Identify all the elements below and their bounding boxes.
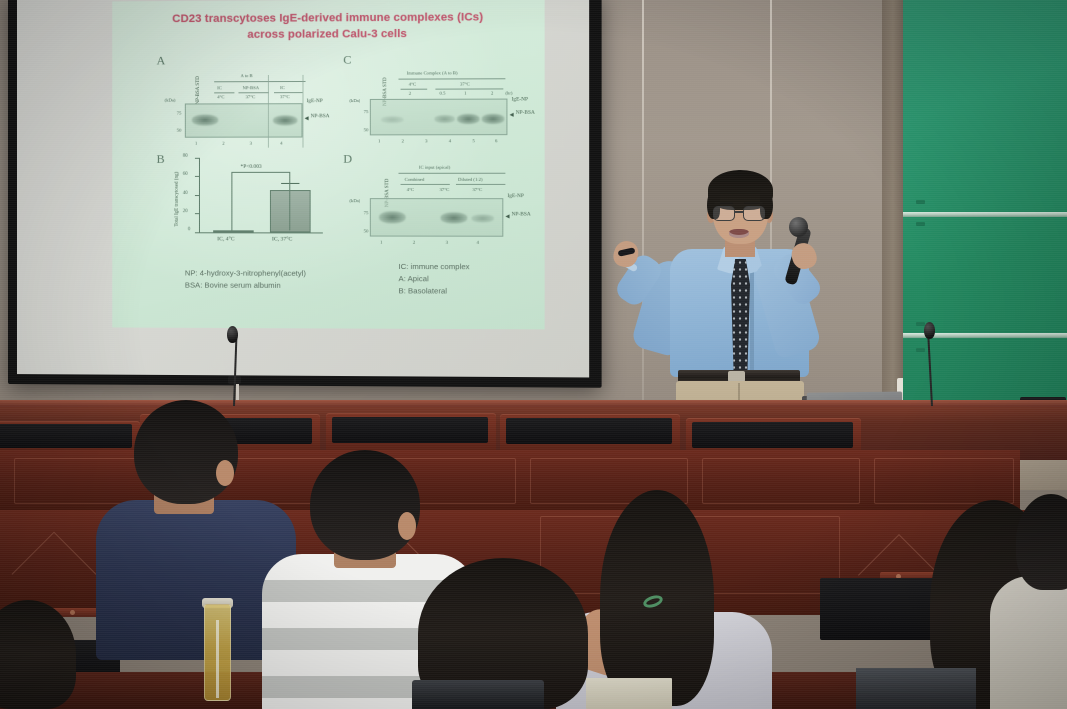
panel-a-rotated-label: NP-BSA STD [196, 76, 201, 104]
chalkboard-clip [916, 348, 925, 352]
panel-d-band-label-top: IgE-NP [507, 193, 523, 199]
panel-c-group-header: Immune Complex (A to B) [407, 70, 458, 75]
panel-a-temp-3: 37°C [280, 94, 290, 99]
panel-c-band-label-top: IgE-NP [512, 96, 528, 102]
panel-b-y-axis [199, 158, 200, 232]
figure-panel-b: B Total IgE transcytosed (ng) 80 [157, 150, 340, 256]
attendee-laptop[interactable] [412, 680, 544, 709]
attendee-head [134, 400, 238, 504]
panel-c-hour-2: 0.5 [440, 91, 446, 96]
slide-legend-left: NP: 4-hydroxy-3-nitrophenyl(acetyl) BSA:… [185, 267, 306, 291]
panel-c-hour-3: 1 [464, 91, 466, 96]
panel-c-sub-rule [435, 88, 503, 89]
panel-d-sub-rule [401, 184, 450, 185]
panel-a-sub-rule [238, 92, 268, 93]
panel-c-lane-num-6: 6 [495, 138, 497, 143]
screen-surface: CD23 transcytoses IgE-derived immune com… [17, 0, 589, 377]
blot-band [379, 211, 406, 223]
presenter [612, 165, 857, 430]
panel-c-hour-unit: (hr) [505, 90, 512, 95]
chalkboard-clip [916, 222, 925, 226]
slide-title-line-1: CD23 transcytoses IgE-derived immune com… [112, 9, 544, 28]
panel-c-lane-num-4: 4 [449, 138, 451, 143]
projection-screen: CD23 transcytoses IgE-derived immune com… [8, 0, 602, 388]
panel-d-blot [370, 198, 504, 237]
panel-d-lane-num-4: 4 [477, 240, 479, 245]
panel-d-temp-2: 37°C [440, 187, 450, 192]
gooseneck-microphone-right[interactable] [924, 322, 935, 339]
panel-a-group-header: A to B [241, 73, 253, 78]
figure-panel-d: D NP-BSA STD (kDa) 75 50 IC input (apica… [343, 149, 538, 256]
bar-ic-4c [213, 230, 254, 232]
chalkboard-clip [916, 322, 925, 326]
panel-a-lane-num-4: 4 [280, 141, 282, 146]
eyeglasses-icon [713, 206, 735, 221]
panel-b-ytick-label-40: 40 [183, 191, 188, 196]
panel-b-ytick-label-0: 0 [188, 227, 190, 232]
panel-a-lane-group-3: IC [280, 85, 285, 90]
panel-d-kda-label: (kDa) [349, 198, 360, 203]
panel-a-divider [268, 75, 269, 148]
bench-panel [874, 458, 1014, 504]
panel-b-xcat-1: IC, 4°C [217, 236, 234, 242]
panel-b-letter: B [157, 152, 165, 167]
panel-a-lane-num-3: 3 [250, 141, 252, 146]
significance-bracket [231, 172, 290, 231]
panel-a-temp-2: 37°C [246, 94, 256, 99]
panel-d-temp-1: 4°C [407, 187, 414, 192]
panel-c-lane-num-5: 5 [472, 138, 474, 143]
attendee-ear [216, 460, 234, 486]
slide-title: CD23 transcytoses IgE-derived immune com… [112, 9, 544, 44]
panel-d-mw-bottom: 50 [364, 228, 369, 233]
attendee-head [1016, 494, 1067, 590]
bench-knob [70, 610, 75, 615]
panel-a-sub-rule [214, 92, 234, 93]
panel-d-letter: D [343, 152, 352, 167]
panel-c-mw-bottom: 50 [364, 127, 369, 132]
eyeglasses-bridge [735, 211, 743, 213]
panel-a-lane-num-1: 1 [195, 141, 197, 146]
blot-band [457, 114, 480, 124]
panel-a-arrow [305, 116, 309, 120]
blot-band [273, 115, 297, 125]
panel-a-letter: A [157, 53, 166, 68]
panel-c-mw-top: 75 [364, 109, 369, 114]
chalkboard-clip [916, 200, 925, 204]
panel-a-sub-rule [274, 92, 302, 93]
panel-c-temp-1: 4°C [409, 82, 416, 87]
panel-c-lane-num-3: 3 [425, 138, 427, 143]
panel-c-hour-4: 2 [491, 90, 493, 95]
panel-a-group-rule [214, 81, 305, 82]
blot-band [441, 212, 468, 223]
panel-d-band-label-bottom: NP-BSA [512, 211, 531, 217]
panel-c-hour-1: 2 [409, 91, 411, 96]
bench-seat [692, 422, 853, 448]
panel-d-mw-top: 75 [364, 210, 369, 215]
panel-d-group-header: IC input (apical) [419, 165, 450, 170]
panel-b-xcat-2: IC, 37°C [272, 236, 292, 242]
panel-b-ytick [195, 158, 199, 159]
panel-c-blot [370, 99, 508, 136]
panel-a-mw-top: 75 [177, 111, 182, 116]
attendee-torso [990, 576, 1067, 709]
panel-d-temp-3: 37°C [472, 187, 482, 192]
eyeglasses-icon [743, 206, 765, 221]
lecture-hall-photo: CD23 transcytoses IgE-derived immune com… [0, 0, 1067, 709]
panel-d-lane-num-3: 3 [446, 240, 448, 245]
panel-c-lane-num-2: 2 [402, 138, 404, 143]
blot-band [482, 114, 505, 124]
presenter-shirt-placket [750, 269, 754, 373]
panel-b-pvalue: *P<0.003 [241, 164, 262, 170]
attendee-notebook[interactable] [856, 668, 976, 709]
wall-column [882, 0, 904, 440]
panel-b-ytick [195, 176, 199, 177]
panel-a-band-label-top: IgE-NP [307, 98, 323, 104]
presenter-mouth [729, 229, 749, 238]
panel-b-y-axis-label: Total IgE transcytosed (ng) [175, 172, 181, 227]
panel-a-lane-group-1: IC [217, 85, 222, 90]
panel-d-group-rule [398, 173, 505, 174]
blot-band [192, 114, 218, 125]
projected-slide: CD23 transcytoses IgE-derived immune com… [112, 0, 544, 329]
panel-b-ytick-label-80: 80 [183, 154, 188, 159]
panel-b-ytick [195, 195, 199, 196]
panel-c-temp-2: 37°C [460, 81, 470, 86]
panel-a-mw-bottom: 50 [177, 128, 182, 133]
panel-c-group-rule [398, 78, 505, 79]
panel-a-divider [302, 75, 303, 148]
panel-d-sub-header-2: Diluted (1:2) [458, 177, 483, 182]
panel-b-y-label-1: Total IgE [175, 208, 180, 227]
panel-b-ytick [195, 232, 199, 233]
figure-panel-c: C NP-BSA STD (kDa) 75 50 Immune Complex … [343, 52, 538, 149]
panel-c-kda-label: (kDa) [349, 98, 360, 103]
bench-seat [820, 578, 940, 640]
figure-panel-a: A NP-BSA STD (kDa) 75 50 A to B IC NP-BS… [157, 53, 340, 149]
panel-b-ytick-label-60: 60 [183, 172, 188, 177]
panel-d-arrow [505, 214, 509, 218]
panel-c-sub-rule [401, 89, 428, 90]
presenter-necktie-pattern [731, 259, 750, 375]
panel-a-kda-label: (kDa) [165, 98, 176, 103]
panel-c-letter: C [343, 52, 351, 67]
attendee-head [310, 450, 420, 560]
panel-a-lane-num-2: 2 [222, 141, 224, 146]
attendee-ear [398, 512, 416, 540]
panel-b-y-label-2: transcytosed (ng) [175, 172, 180, 207]
microphone-icon[interactable] [789, 217, 808, 237]
panel-d-sub-header-1: Combined [405, 177, 425, 182]
bench-seat [332, 417, 488, 443]
panel-d-lane-num-2: 2 [413, 240, 415, 245]
panel-b-ytick-label-20: 20 [183, 209, 188, 214]
panel-d-lane-num-1: 1 [380, 240, 382, 245]
panel-b-ytick [195, 213, 199, 214]
panel-c-lane-num-1: 1 [378, 138, 380, 143]
bench-seat [0, 424, 132, 448]
panel-c-arrow [510, 113, 514, 117]
tea-straw [216, 620, 219, 698]
paper-sheet[interactable] [586, 678, 672, 709]
panel-b-x-axis [199, 232, 323, 233]
panel-d-sub-rule [456, 184, 505, 185]
panel-c-band-label-bottom: NP-BSA [516, 110, 535, 116]
panel-a-blot [185, 103, 303, 138]
slide-title-line-2: across polarized Calu-3 cells [112, 25, 544, 44]
gooseneck-microphone-left[interactable] [227, 326, 238, 343]
blot-band [471, 214, 494, 222]
chalkboard-rail [903, 212, 1067, 217]
panel-a-lane-group-2: NP-BSA [243, 85, 260, 90]
slide-legend-right: IC: immune complex A: Apical B: Basolate… [398, 261, 469, 297]
blot-band [381, 116, 404, 123]
panel-a-band-label-bottom: NP-BSA [311, 113, 330, 119]
bench-panel [702, 458, 860, 504]
bench-seat [506, 418, 672, 444]
panel-a-temp-1: 4°C [217, 94, 224, 99]
blot-band [434, 115, 455, 123]
